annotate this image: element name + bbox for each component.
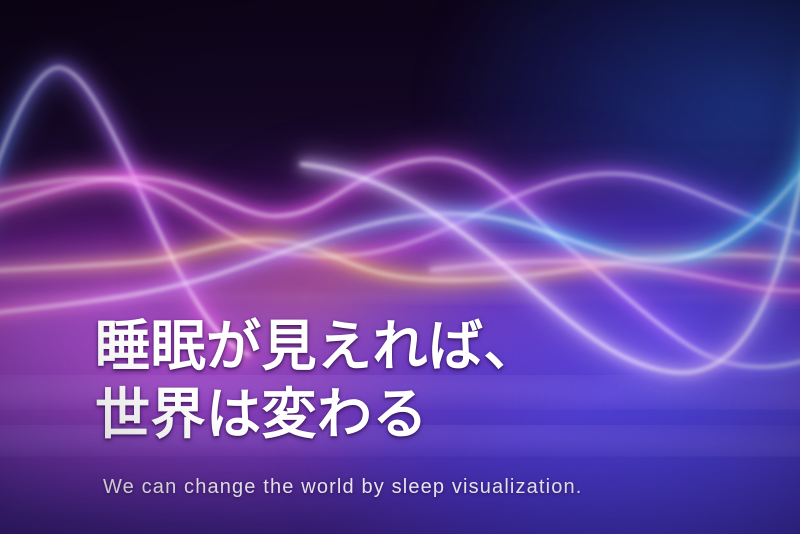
hero-copy: 睡眠が見えれば、 世界は変わる We can change the world … bbox=[95, 312, 582, 500]
headline-line-1: 睡眠が見えれば、 bbox=[95, 312, 582, 380]
hero-subheadline: We can change the world by sleep visuali… bbox=[103, 474, 582, 500]
page-title: 睡眠が見えれば、 世界は変わる bbox=[95, 312, 582, 448]
hero-banner: 睡眠が見えれば、 世界は変わる We can change the world … bbox=[0, 0, 800, 534]
headline-line-2: 世界は変わる bbox=[95, 380, 582, 448]
